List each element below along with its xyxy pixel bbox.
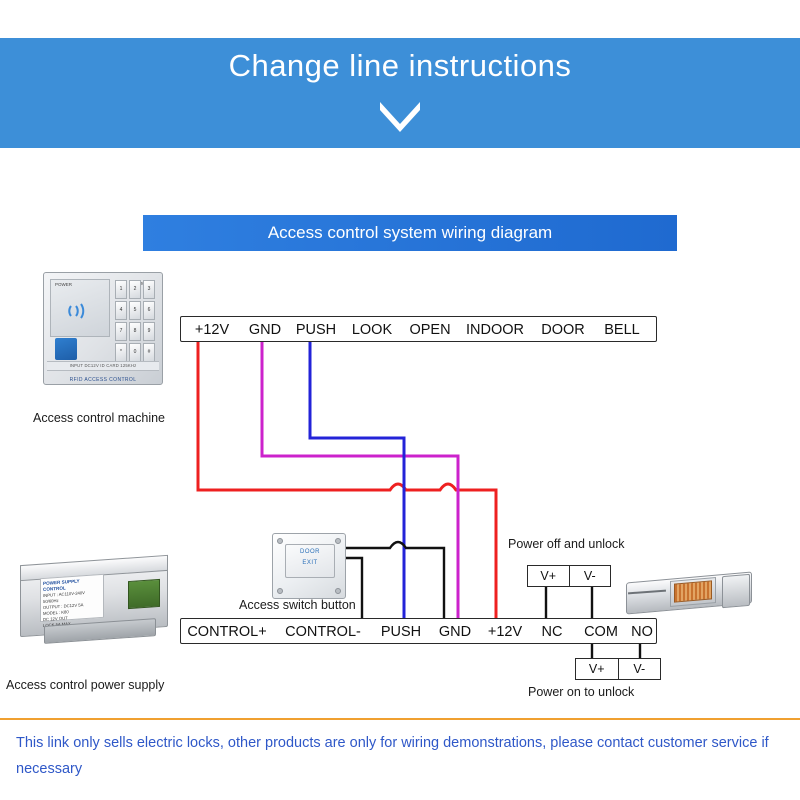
electric-lock-device	[626, 567, 750, 619]
keypad-blue-button[interactable]	[55, 338, 77, 360]
keypad-key[interactable]: *	[115, 343, 127, 362]
caption-access-control-power-supply: Access control power supply	[6, 678, 164, 692]
exit-button-screw	[277, 538, 283, 544]
keypad-spec-band: INPUT DC12V ID CARD 125KHz	[47, 361, 159, 371]
keypad-screen	[50, 279, 110, 337]
subtitle-text: Access control system wiring diagram	[143, 215, 677, 251]
lock-end-cap	[722, 574, 750, 608]
terminal-top-7: BELL	[593, 317, 651, 343]
psu-terminal-block	[128, 579, 160, 609]
access-control-machine-terminal-strip: +12V GND PUSH LOOK OPEN INDOOR DOOR BELL	[180, 316, 657, 342]
keypad-key[interactable]: 0	[129, 343, 141, 362]
exit-button-line-2: EXIT	[286, 560, 334, 566]
terminal-bottom-4: +12V	[477, 619, 533, 645]
caption-power-on-to-unlock: Power on to unlock	[528, 685, 634, 699]
keypad-key[interactable]: 8	[129, 322, 141, 341]
vbox-bottom-cell-0: V+	[576, 659, 619, 679]
terminal-bottom-7: NO	[625, 619, 659, 645]
keypad-key[interactable]: 4	[115, 301, 127, 320]
keypad-key[interactable]: 3	[143, 280, 155, 299]
terminal-top-5: INDOOR	[457, 317, 533, 343]
keypad-keys[interactable]: 1 2 3 4 5 6 7 8 9 * 0 #	[115, 280, 155, 360]
exit-button-screw	[277, 588, 283, 594]
caption-access-control-machine: Access control machine	[33, 411, 165, 425]
footer-divider	[0, 718, 800, 720]
keypad-key[interactable]: 9	[143, 322, 155, 341]
keypad-key[interactable]: 5	[129, 301, 141, 320]
keypad-power-label: POWER	[55, 282, 72, 287]
terminal-top-1: GND	[239, 317, 291, 343]
vbox-power-on-unlock: V+ V-	[575, 658, 661, 680]
terminal-bottom-3: GND	[429, 619, 481, 645]
header-banner: Change line instructions	[0, 38, 800, 148]
terminal-bottom-1: CONTROL-	[277, 619, 369, 645]
terminal-top-2: PUSH	[287, 317, 345, 343]
rfid-wave-icon	[67, 302, 89, 320]
wiring-diagram-page: Change line instructions Access control …	[0, 0, 800, 800]
vbox-bottom-cell-1: V-	[619, 659, 661, 679]
caption-access-switch-button: Access switch button	[239, 598, 356, 612]
terminal-bottom-0: CONTROL+	[181, 619, 273, 645]
terminal-bottom-5: NC	[529, 619, 575, 645]
power-supply-terminal-strip: CONTROL+ CONTROL- PUSH GND +12V NC COM N…	[180, 618, 657, 644]
access-switch-button-device[interactable]: DOOR EXIT	[272, 533, 346, 599]
terminal-top-3: LOOK	[343, 317, 401, 343]
exit-button-face[interactable]: DOOR EXIT	[285, 544, 335, 578]
access-control-machine-device: POWER AD2000-M 1 2 3 4 5 6 7 8 9 * 0 # I…	[43, 272, 163, 385]
keypad-key[interactable]: 1	[115, 280, 127, 299]
keypad-key[interactable]: 2	[129, 280, 141, 299]
lock-coil	[674, 580, 712, 602]
keypad-key[interactable]: 7	[115, 322, 127, 341]
access-control-power-supply-device: POWER SUPPLY CONTROL INPUT : AC110V-240V…	[14, 558, 174, 646]
terminal-bottom-2: PUSH	[373, 619, 429, 645]
keypad-key[interactable]: #	[143, 343, 155, 362]
exit-button-line-1: DOOR	[286, 549, 334, 555]
exit-button-screw	[335, 538, 341, 544]
psu-label: POWER SUPPLY CONTROL INPUT : AC110V-240V…	[40, 574, 104, 622]
keypad-key[interactable]: 6	[143, 301, 155, 320]
keypad-brand-label: RFID ACCESS CONTROL	[43, 377, 163, 383]
page-title: Change line instructions	[0, 48, 800, 84]
vbox-power-off-unlock: V+ V-	[527, 565, 611, 587]
subtitle-bar: Access control system wiring diagram	[143, 215, 677, 251]
footer-note: This link only sells electric locks, oth…	[16, 730, 791, 782]
exit-button-screw	[335, 588, 341, 594]
chevron-down-icon	[376, 98, 424, 132]
caption-power-off-and-unlock: Power off and unlock	[508, 537, 625, 551]
terminal-top-6: DOOR	[533, 317, 593, 343]
terminal-bottom-6: COM	[573, 619, 629, 645]
terminal-top-0: +12V	[183, 317, 241, 343]
vbox-top-cell-0: V+	[528, 566, 570, 586]
terminal-top-4: OPEN	[401, 317, 459, 343]
vbox-top-cell-1: V-	[570, 566, 611, 586]
